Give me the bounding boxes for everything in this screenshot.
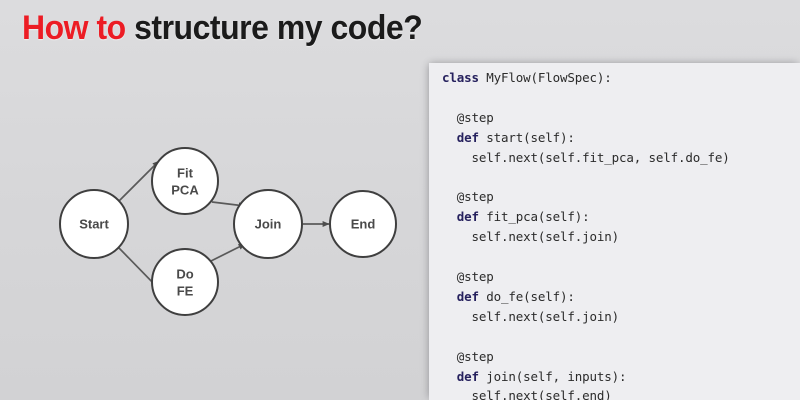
diagram-nodes: Start Fit PCA Do FE Join [60, 148, 396, 315]
code-block: class MyFlow(FlowSpec):​ @step def start… [442, 68, 730, 400]
node-end-label: End [351, 216, 376, 231]
node-join[interactable]: Join [234, 190, 302, 258]
code-keyword: def [457, 209, 479, 224]
code-keyword: def [457, 130, 479, 145]
code-line: @step [442, 108, 730, 128]
code-line: self.next(self.join) [442, 227, 730, 247]
code-keyword: class [442, 70, 479, 85]
code-line: self.next(self.fit_pca, self.do_fe) [442, 148, 730, 168]
code-line: @step [442, 267, 730, 287]
node-do-fe[interactable]: Do FE [152, 249, 218, 315]
code-line: ​ [442, 88, 730, 108]
node-join-label: Join [255, 216, 282, 231]
node-fit-pca-circle[interactable] [152, 148, 218, 214]
code-line: ​ [442, 247, 730, 267]
code-line: def fit_pca(self): [442, 207, 730, 227]
node-fit-pca-label-line2: PCA [171, 182, 199, 197]
code-line: def do_fe(self): [442, 287, 730, 307]
flow-diagram-svg: Start Fit PCA Do FE Join [0, 0, 430, 400]
code-panel: class MyFlow(FlowSpec):​ @step def start… [429, 63, 800, 400]
code-line: ​ [442, 168, 730, 188]
node-fit-pca[interactable]: Fit PCA [152, 148, 218, 214]
node-do-fe-circle[interactable] [152, 249, 218, 315]
node-fit-pca-label-line1: Fit [177, 165, 194, 180]
code-line: self.next(self.end) [442, 386, 730, 400]
code-line: self.next(self.join) [442, 307, 730, 327]
code-line: @step [442, 347, 730, 367]
flow-diagram: Start Fit PCA Do FE Join [0, 0, 430, 400]
edge-do-fe-to-join [211, 244, 245, 261]
node-start[interactable]: Start [60, 190, 128, 258]
code-line: def start(self): [442, 128, 730, 148]
slide-canvas: How to structure my code? Start [0, 0, 800, 400]
code-line: def join(self, inputs): [442, 367, 730, 387]
node-start-label: Start [79, 216, 109, 231]
code-keyword: def [457, 369, 479, 384]
node-end[interactable]: End [330, 191, 396, 257]
code-line: ​ [442, 327, 730, 347]
code-line: class MyFlow(FlowSpec): [442, 68, 730, 88]
code-keyword: def [457, 289, 479, 304]
node-do-fe-label-line2: FE [177, 283, 194, 298]
code-line: @step [442, 187, 730, 207]
node-do-fe-label-line1: Do [176, 266, 193, 281]
